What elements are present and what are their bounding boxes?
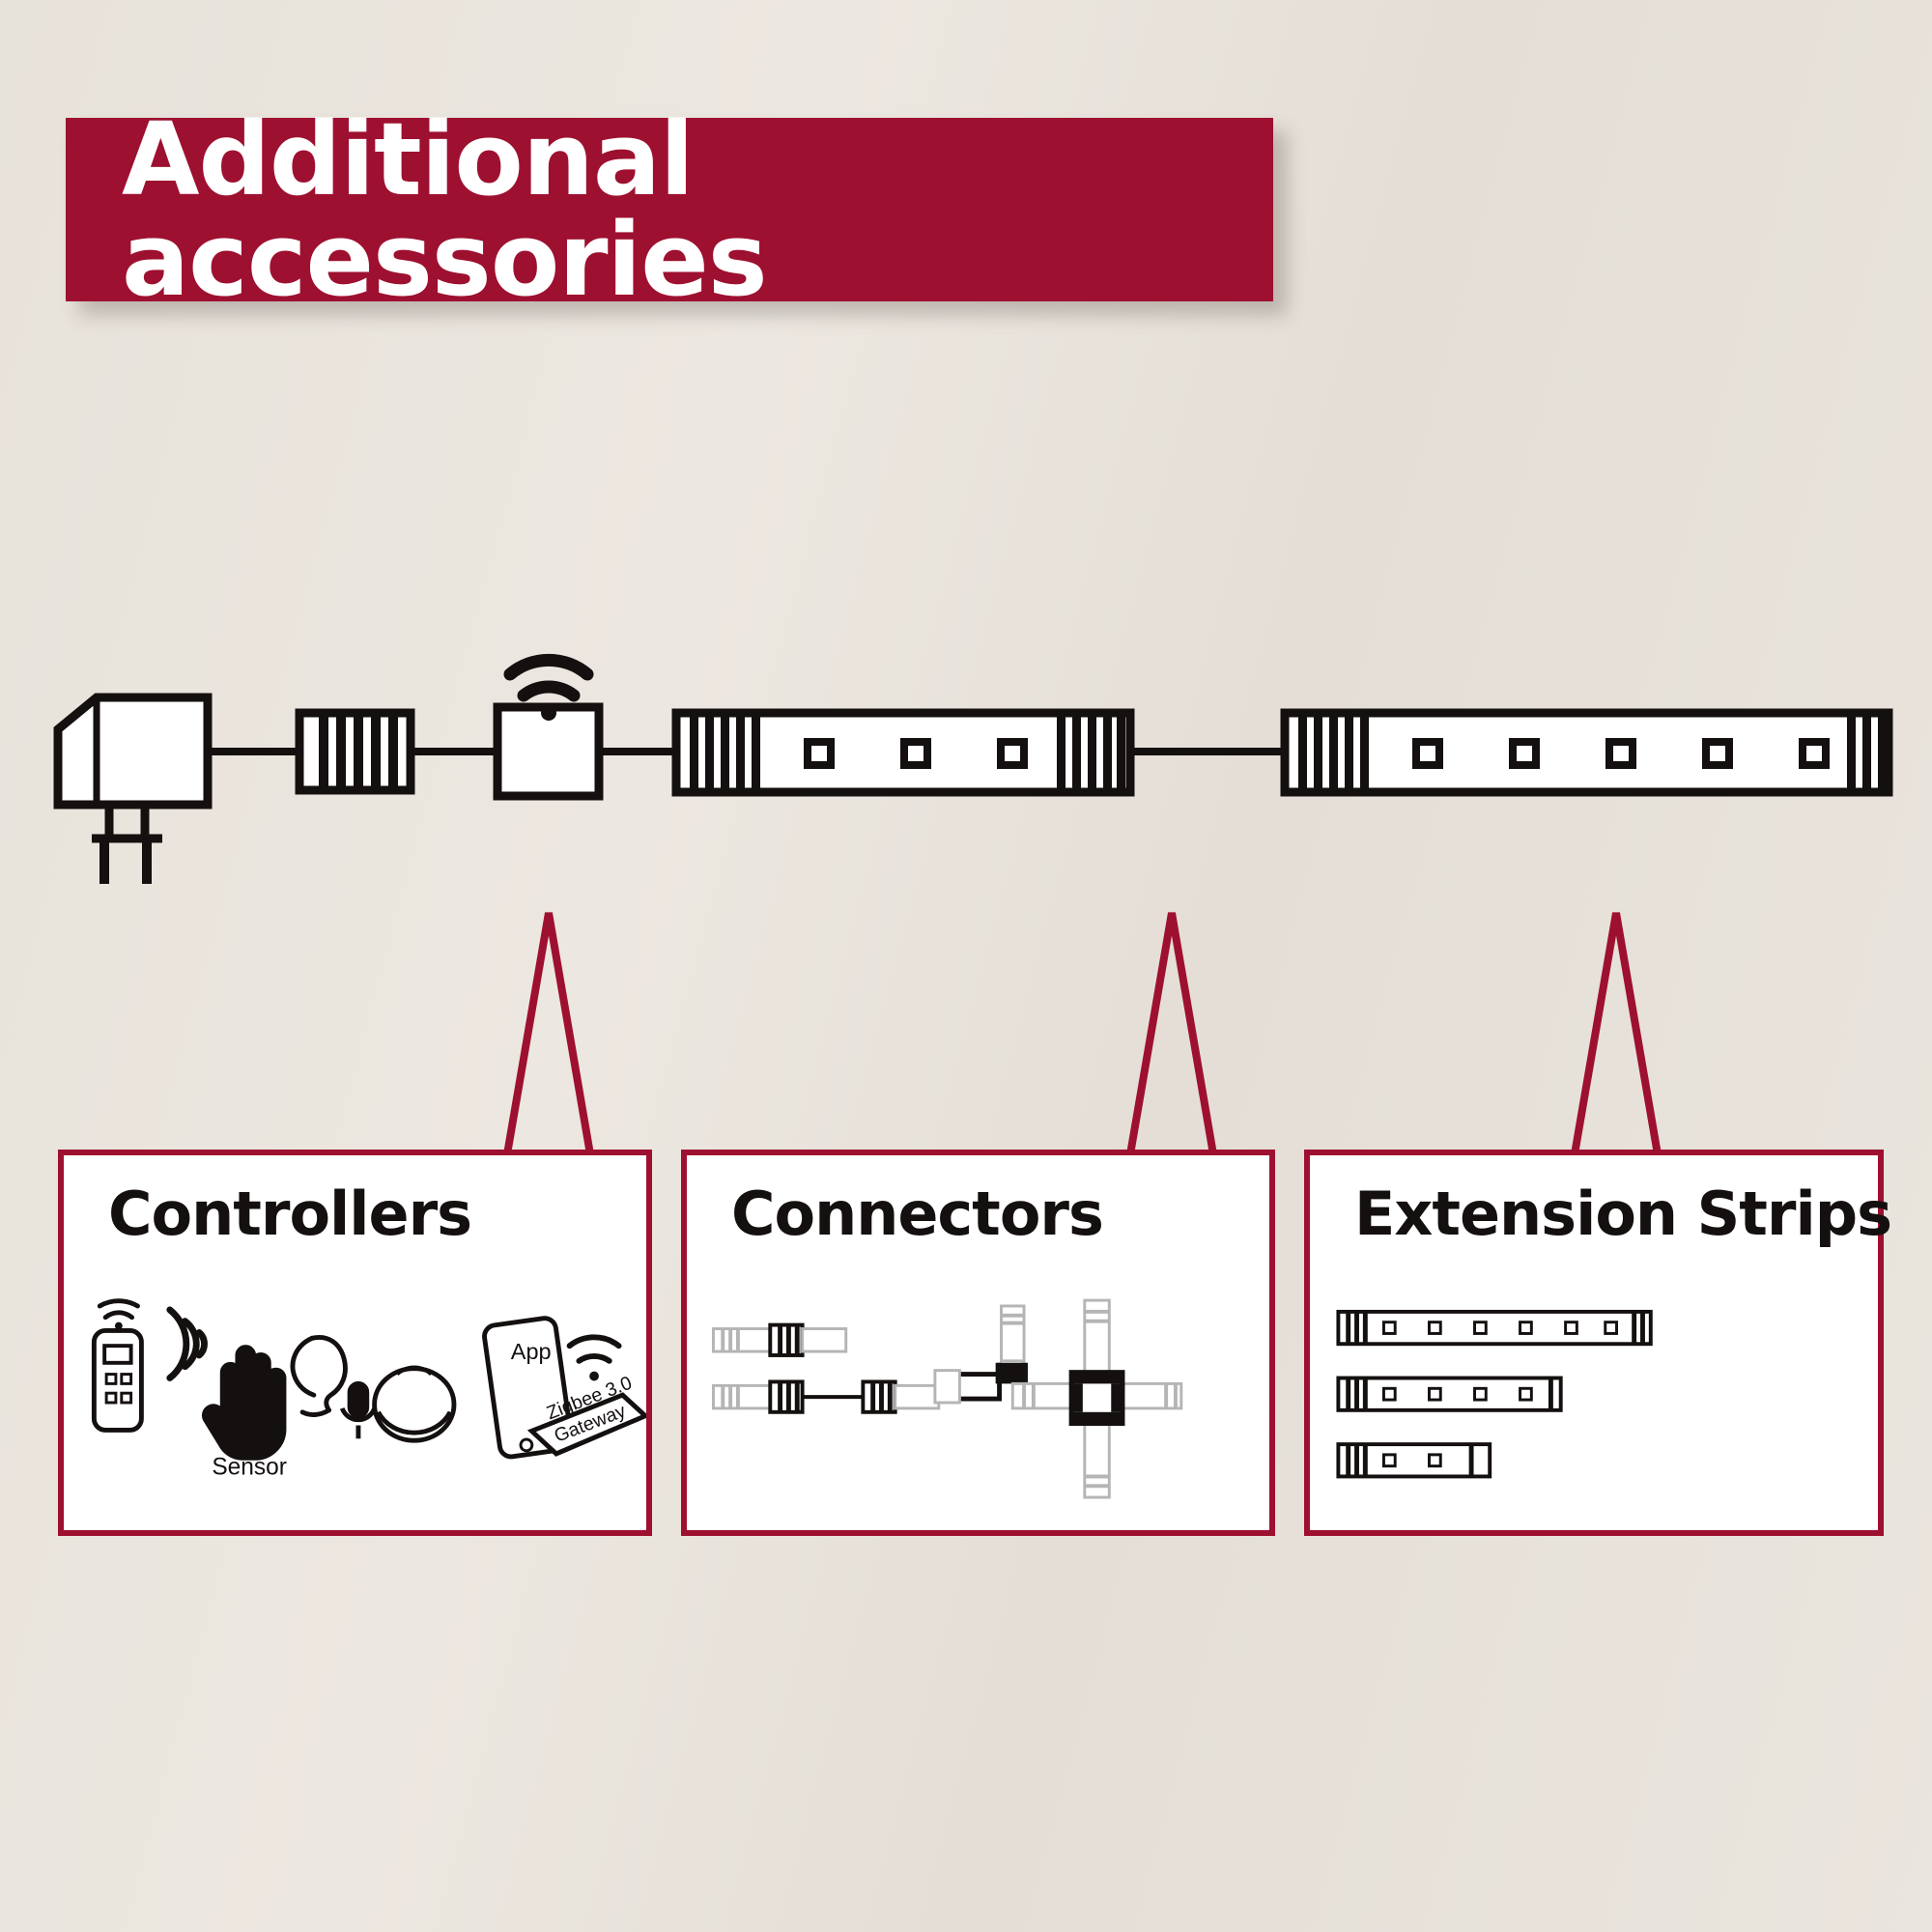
- card-extension-strips[interactable]: Extension Strips: [1304, 1150, 1884, 1536]
- extension-strip-long-icon: [1338, 1312, 1650, 1344]
- extension-strip-medium-icon: [1338, 1378, 1560, 1410]
- callout-pointers: [0, 898, 1932, 1159]
- pointer-controllers: [507, 913, 590, 1154]
- led-strip-extension-icon: [1285, 713, 1889, 792]
- app-label: App: [511, 1339, 552, 1364]
- remote-control-icon: [94, 1301, 141, 1431]
- cross-connector-icon: [1012, 1300, 1181, 1497]
- card-controllers-title: Controllers: [108, 1179, 471, 1249]
- motion-sensor-hand-icon: [170, 1310, 284, 1458]
- page-title: Additional accessories: [122, 109, 1273, 310]
- poster-canvas: Additional accessories: [0, 0, 1932, 1932]
- card-controllers-artwork: Sensor App: [64, 1269, 646, 1535]
- card-connectors[interactable]: Connectors: [681, 1150, 1275, 1536]
- led-strip-icon-1: [676, 713, 1130, 792]
- strip-connector-icon-1: [299, 713, 411, 790]
- led-system-schematic: [0, 638, 1932, 927]
- card-connectors-title: Connectors: [731, 1179, 1103, 1249]
- power-supply-icon: [58, 697, 208, 884]
- card-controllers[interactable]: Controllers: [58, 1150, 652, 1536]
- voice-assistant-speaker-icon: [293, 1337, 454, 1440]
- sensor-label: Sensor: [212, 1455, 287, 1481]
- title-banner: Additional accessories: [66, 118, 1273, 301]
- strip-to-strip-connector-icon: [713, 1325, 938, 1412]
- card-extension-title: Extension Strips: [1354, 1179, 1891, 1249]
- pointer-extension: [1575, 913, 1658, 1154]
- card-connectors-artwork: [687, 1269, 1269, 1535]
- pointer-connectors: [1130, 913, 1213, 1154]
- card-extension-artwork: [1310, 1269, 1878, 1535]
- extension-strip-short-icon: [1338, 1444, 1490, 1476]
- wifi-waves-small-icon: [570, 1337, 619, 1380]
